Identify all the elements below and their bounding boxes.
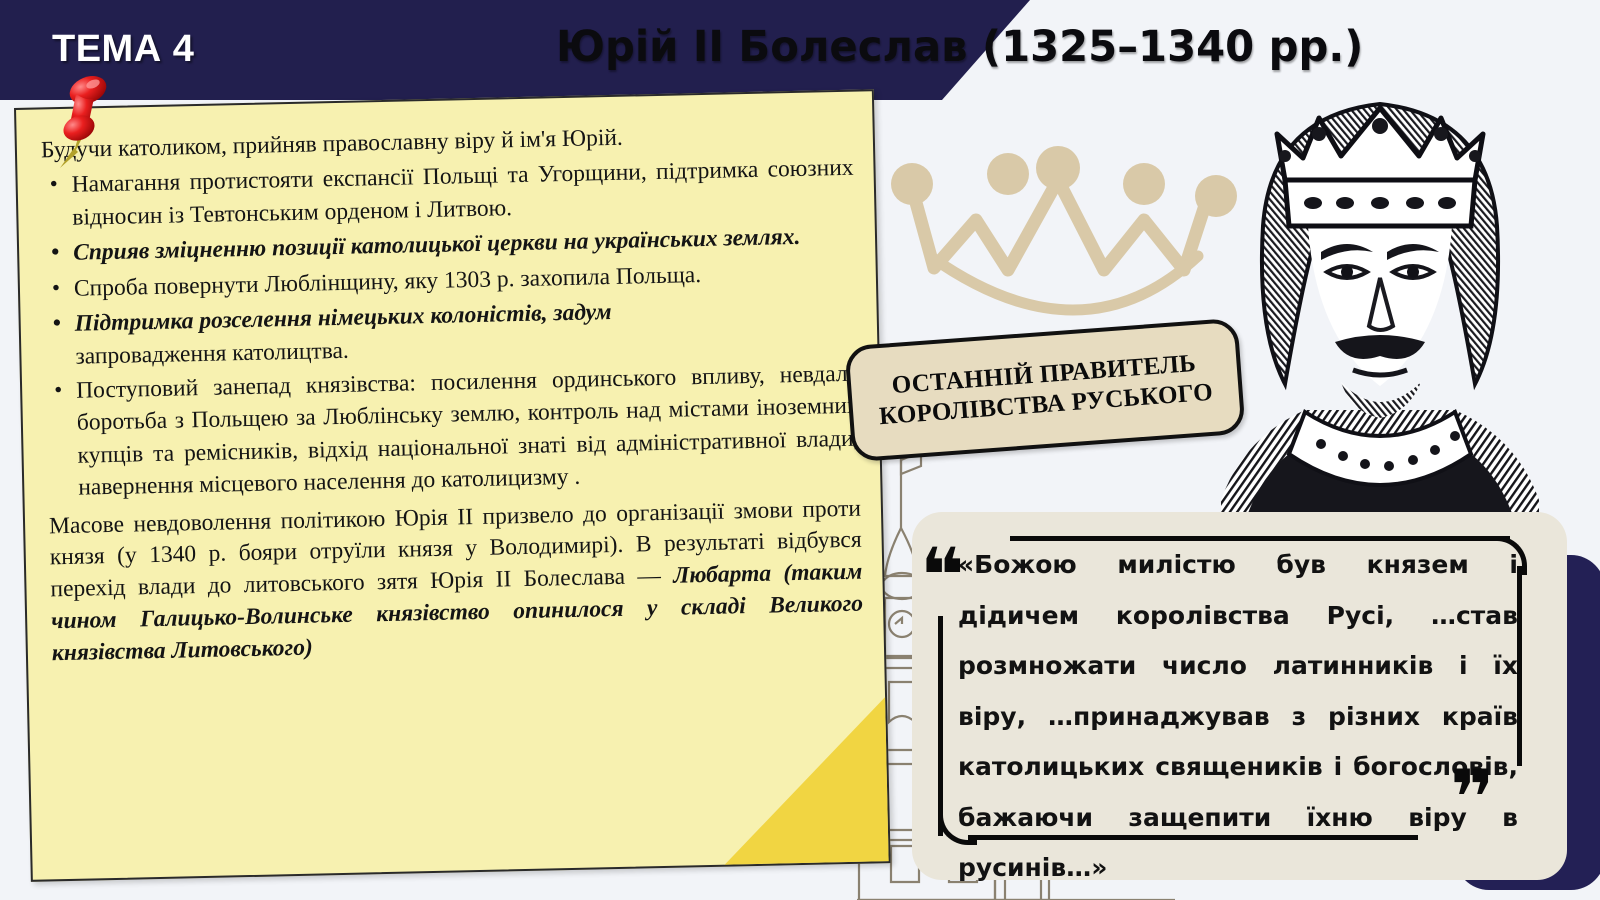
note-bullet-list-2: Поступовий занепад князівства: посилення… xyxy=(46,357,861,504)
king-portrait-engraving xyxy=(1185,30,1575,590)
quote-open-mark-icon: ❝ xyxy=(920,538,965,614)
page-title: Юрій II Болеслав (1325–1340 рр.) xyxy=(556,22,1363,72)
note-folded-corner xyxy=(719,695,889,867)
slide-canvas: ТЕМА 4 Юрій II Болеслав (1325–1340 рр.) … xyxy=(0,0,1600,900)
quote-close-mark-icon: ❞ xyxy=(1450,760,1495,836)
yellow-sticky-note: Будучи католиком, прийняв православну ві… xyxy=(14,89,891,882)
note-bullet-list: Намагання протистояти експансії Польщі т… xyxy=(41,152,857,341)
pushpin-icon xyxy=(48,72,118,168)
note-closing-paragraph: Масове невдоволення політикою Юрія II пр… xyxy=(49,493,864,670)
topic-label: ТЕМА 4 xyxy=(52,28,194,71)
quote-text: «Божою милістю був князем і дідичем коро… xyxy=(958,540,1518,894)
note-content: Будучи католиком, прийняв православну ві… xyxy=(41,118,864,671)
list-item: Поступовий занепад князівства: посилення… xyxy=(46,357,861,504)
quote-rule-left xyxy=(938,616,943,836)
badge-text: ОСТАННІЙ ПРАВИТЕЛЬ КОРОЛІВСТВА РУСЬКОГО xyxy=(849,322,1242,458)
